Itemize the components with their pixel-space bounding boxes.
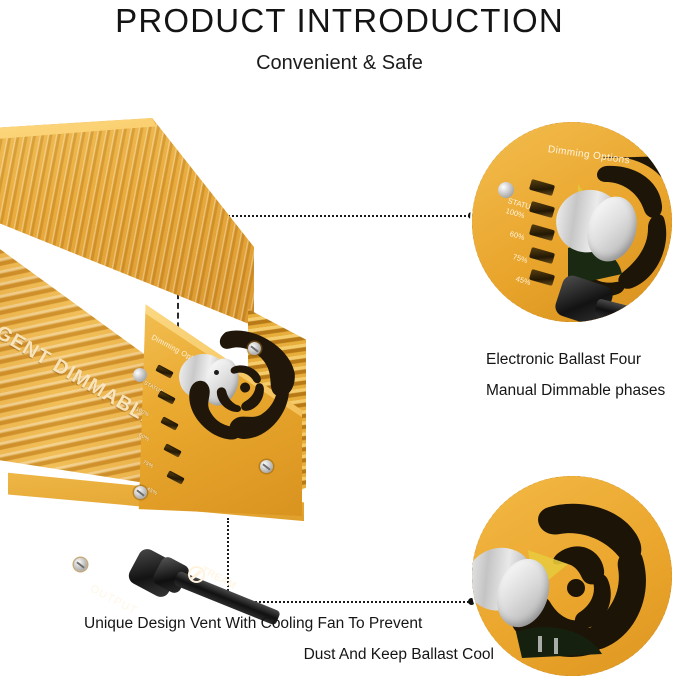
flange-notch-1 <box>45 508 69 525</box>
callout-circle-vent <box>472 476 672 676</box>
callout-caption-dimming-line1: Electronic Ballast Four <box>486 344 679 375</box>
callout-caption-vent-line1: Unique Design Vent With Cooling Fan To P… <box>84 608 494 639</box>
callout-caption-vent: Unique Design Vent With Cooling Fan To P… <box>84 608 494 670</box>
callout-status-led <box>498 182 514 198</box>
page-title: PRODUCT INTRODUCTION <box>0 2 679 40</box>
panel-screw-bottom-left <box>74 558 87 571</box>
callout-caption-dimming-line2: Manual Dimmable phases <box>486 375 679 406</box>
panel-screw-top-left <box>134 486 147 499</box>
panel-screw-top-right <box>248 342 261 355</box>
page-subtitle: Convenient & Safe <box>0 52 679 75</box>
ballast-product-photo: LIGENT DIMMABLE BALLAST Dimming Options … <box>0 118 316 548</box>
callout-caption-vent-line2: Dust And Keep Ballast Cool <box>84 639 494 670</box>
callout-circle-dimming: STATUS Dimming Options 100% 60% 75% 45% <box>472 122 672 322</box>
leader-line-bottom-horizontal <box>227 601 473 603</box>
callout-caption-dimming: Electronic Ballast Four Manual Dimmable … <box>486 344 679 406</box>
panel-screw-bottom-right <box>260 460 273 473</box>
